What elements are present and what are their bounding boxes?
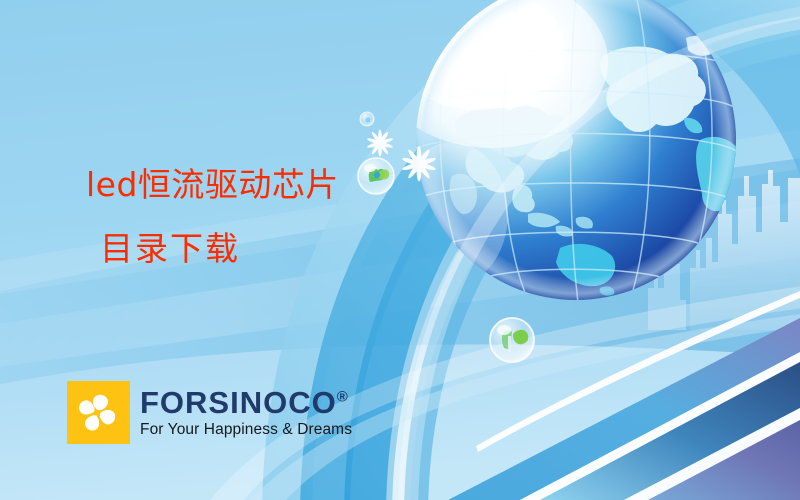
logo-text-block: FORSINOCO® For Your Happiness & Dreams [140, 381, 352, 444]
headline-line-1: led恒流驱动芯片 [86, 168, 506, 201]
company-logo: FORSINOCO® For Your Happiness & Dreams [67, 381, 352, 444]
bubble-small [360, 112, 374, 126]
logo-wordmark-text: FORSINOCO [140, 385, 337, 420]
slide-canvas: led恒流驱动芯片 目录下载 FORSINOCO® For Your Happi… [0, 0, 800, 500]
bubble-leaves [490, 318, 534, 362]
headline-line-2: 目录下载 [100, 232, 506, 265]
logo-wordmark: FORSINOCO® [140, 387, 352, 418]
logo-tagline: For Your Happiness & Dreams [140, 421, 352, 439]
headline-text: led恒流驱动芯片 目录下载 [86, 168, 506, 265]
four-petal-pinwheel-icon [67, 381, 130, 444]
registered-trademark-icon: ® [337, 389, 348, 406]
